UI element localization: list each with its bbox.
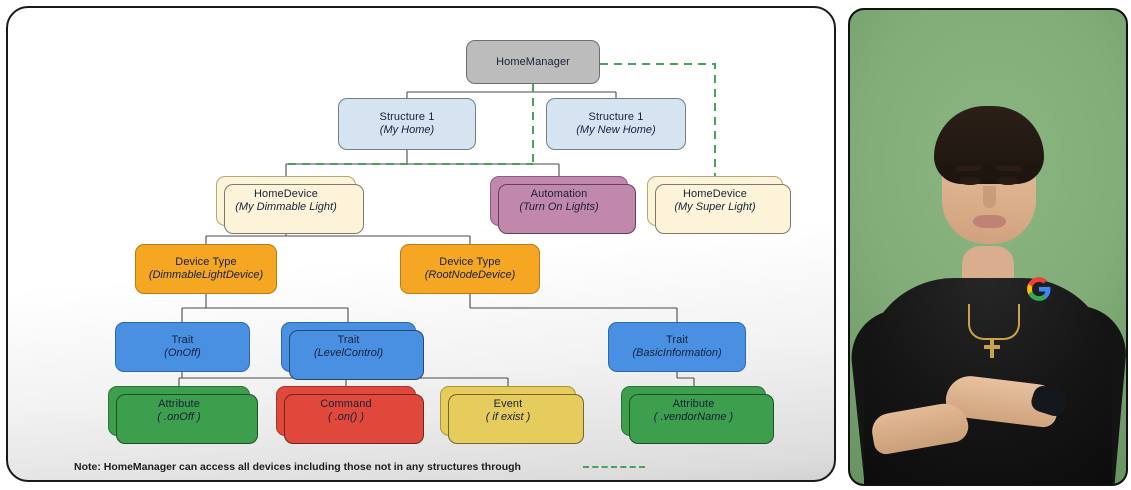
node-label-line1: Trait [337,334,359,347]
google-g-icon [1026,276,1052,302]
necklace-chain-right [992,304,1020,340]
presenter-nose [983,186,996,208]
node-structure-my-home[interactable]: Structure 1 (My Home) [338,98,476,150]
node-trait-levelcontrol[interactable]: Trait (LevelControl) [281,322,416,372]
node-label-line2: (My Super Light) [674,201,755,214]
node-home-device-super-light[interactable]: HomeDevice (My Super Light) [647,176,783,226]
node-label-line1: Trait [666,334,688,347]
node-automation-turn-on-lights[interactable]: Automation (Turn On Lights) [490,176,628,226]
node-label-line1: Structure 1 [589,111,644,124]
node-label-line1: Event [494,398,523,411]
node-label-line1: Automation [531,188,588,201]
node-label-line1: HomeDevice [254,188,318,201]
dashed-green-line-icon [583,466,645,468]
node-label-line2: (DimmableLightDevice) [149,269,263,282]
node-home-device-dimmable-light[interactable]: HomeDevice (My Dimmable Light) [216,176,356,226]
note-text: Note: HomeManager can access all devices… [74,461,521,473]
node-device-type-root-node-device[interactable]: Device Type (RootNodeDevice) [400,244,540,294]
cross-pendant-icon [990,340,994,358]
home-api-hierarchy-diagram: HomeManager Structure 1 (My Home) Struct… [8,8,834,480]
node-trait-basicinformation[interactable]: Trait (BasicInformation) [608,322,746,372]
node-trait-onoff[interactable]: Trait (OnOff) [115,322,250,372]
node-label-line2: (BasicInformation) [632,347,721,360]
node-label-line1: HomeDevice [683,188,747,201]
node-command-on[interactable]: Command ( .on() ) [276,386,416,436]
presenter-video-panel[interactable] [848,8,1128,486]
node-structure-my-new-home[interactable]: Structure 1 (My New Home) [546,98,686,150]
node-label-line2: ( .onOff ) [157,411,200,424]
node-label-line2: (Turn On Lights) [519,201,598,214]
node-label-line2: (My Dimmable Light) [235,201,336,214]
screenshot-root: HomeManager Structure 1 (My Home) Struct… [0,0,1131,490]
node-label-line2: ( .vendorName ) [654,411,733,424]
node-label-line2: (RootNodeDevice) [425,269,515,282]
node-attribute-vendorname[interactable]: Attribute ( .vendorName ) [621,386,766,436]
node-label-line1: Command [320,398,371,411]
node-label-line2: ( if exist ) [486,411,531,424]
node-label-line2: (LevelControl) [314,347,383,360]
node-label-line1: Trait [171,334,193,347]
node-device-type-dimmable-light-device[interactable]: Device Type (DimmableLightDevice) [135,244,277,294]
node-label-line1: Device Type [175,256,236,269]
node-label-line1: Attribute [158,398,200,411]
node-label-line2: (My New Home) [576,124,655,137]
diagram-note: Note: HomeManager can access all devices… [74,457,774,477]
node-label-line2: ( .on() ) [328,411,364,424]
node-event-if-exist[interactable]: Event ( if exist ) [440,386,576,436]
node-home-manager[interactable]: HomeManager [466,40,600,84]
node-label-line1: Attribute [673,398,715,411]
node-label-line1: HomeManager [496,56,570,69]
node-attribute-onoff[interactable]: Attribute ( .onOff ) [108,386,250,436]
node-label-line2: (OnOff) [164,347,201,360]
slide-panel: HomeManager Structure 1 (My Home) Struct… [6,6,836,482]
node-label-line1: Device Type [439,256,500,269]
node-label-line2: (My Home) [380,124,434,137]
presenter-right-eye [997,177,1019,185]
presenter-mouth [973,215,1006,228]
node-label-line1: Structure 1 [380,111,435,124]
presenter-left-eye [959,177,981,185]
